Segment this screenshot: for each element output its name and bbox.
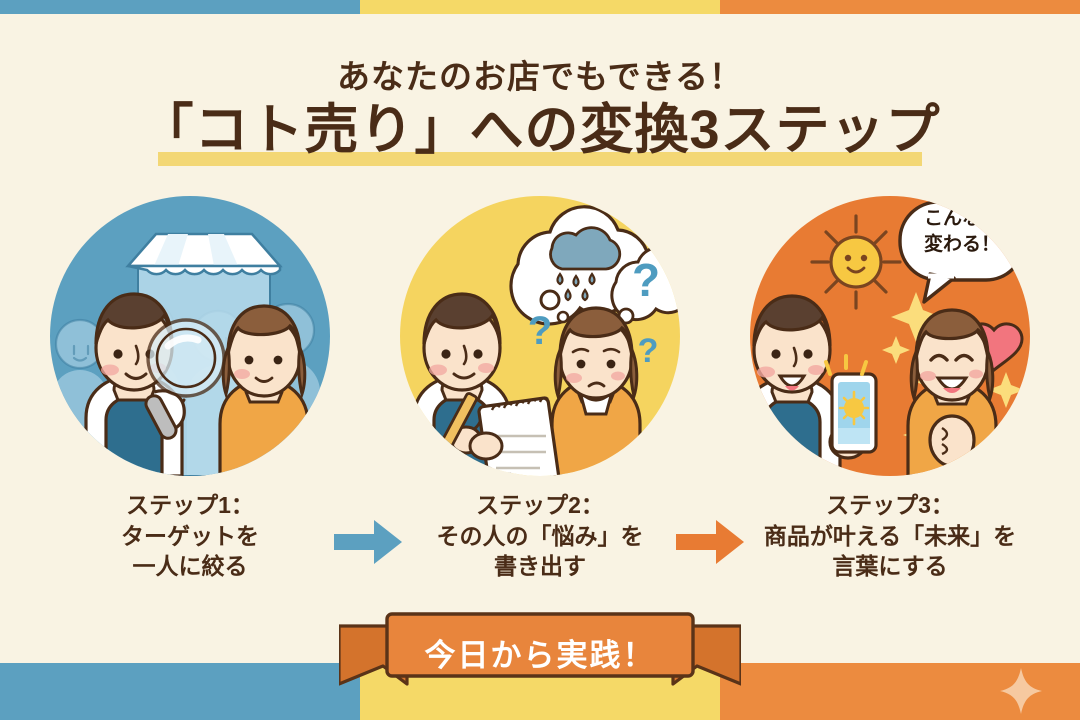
step-2-illustration: ? ? ? [400,196,680,476]
top-bar-segment-blue [0,0,360,14]
step-2: ? ? ? [370,196,710,582]
bottom-bar-segment-blue [0,663,360,720]
page-title: 「コト売り」への変換3ステップ [131,100,948,160]
customer-female-step1 [220,306,308,476]
arrow-step2-to-step3 [676,518,746,566]
customer-female-step2 [552,308,640,476]
question-mark-small-left: ? [528,309,552,353]
customer-female-step3 [908,310,996,476]
shop-awning [128,234,280,274]
top-bar-segment-yellow [360,0,720,14]
top-bar-segment-orange [720,0,1080,14]
step-3-illustration: こんなに 変わる！ [750,196,1030,476]
step-2-caption: ステップ2： その人の「悩み」を 書き出す [370,490,710,582]
smartphone-icon [826,356,876,452]
step-1-illustration [50,196,330,476]
corner-sparkle-icon [1000,668,1042,714]
svg-text:?: ? [632,254,660,306]
step-1-caption: ステップ1： ターゲットを 一人に絞る [20,490,360,582]
step-3-caption: ステップ3： 商品が叶える「未来」を 言葉にする [720,490,1060,582]
infographic-poster: あなたのお店でもできる！ 「コト売り」への変換3ステップ [0,0,1080,720]
poster-subtitle: あなたのお店でもできる！ [0,50,1080,98]
top-color-bar [0,0,1080,14]
step-1: ステップ1： ターゲットを 一人に絞る [20,196,360,582]
ribbon-banner: 今日から実践！ [339,612,741,688]
arrow-step1-to-step2 [334,518,404,566]
steps-row: ステップ1： ターゲットを 一人に絞る [0,196,1080,596]
question-mark-small-right: ? [638,332,659,370]
step-3: こんなに 変わる！ ステップ3： 商品が叶える「未来」を 言葉にする [720,196,1060,582]
speech-bubble-text: こんなに 変わる！ [900,206,1024,257]
poster-title-wrapper: 「コト売り」への変換3ステップ [0,100,1080,160]
phone-shine-lines [826,356,866,374]
sun-icon [812,216,900,308]
